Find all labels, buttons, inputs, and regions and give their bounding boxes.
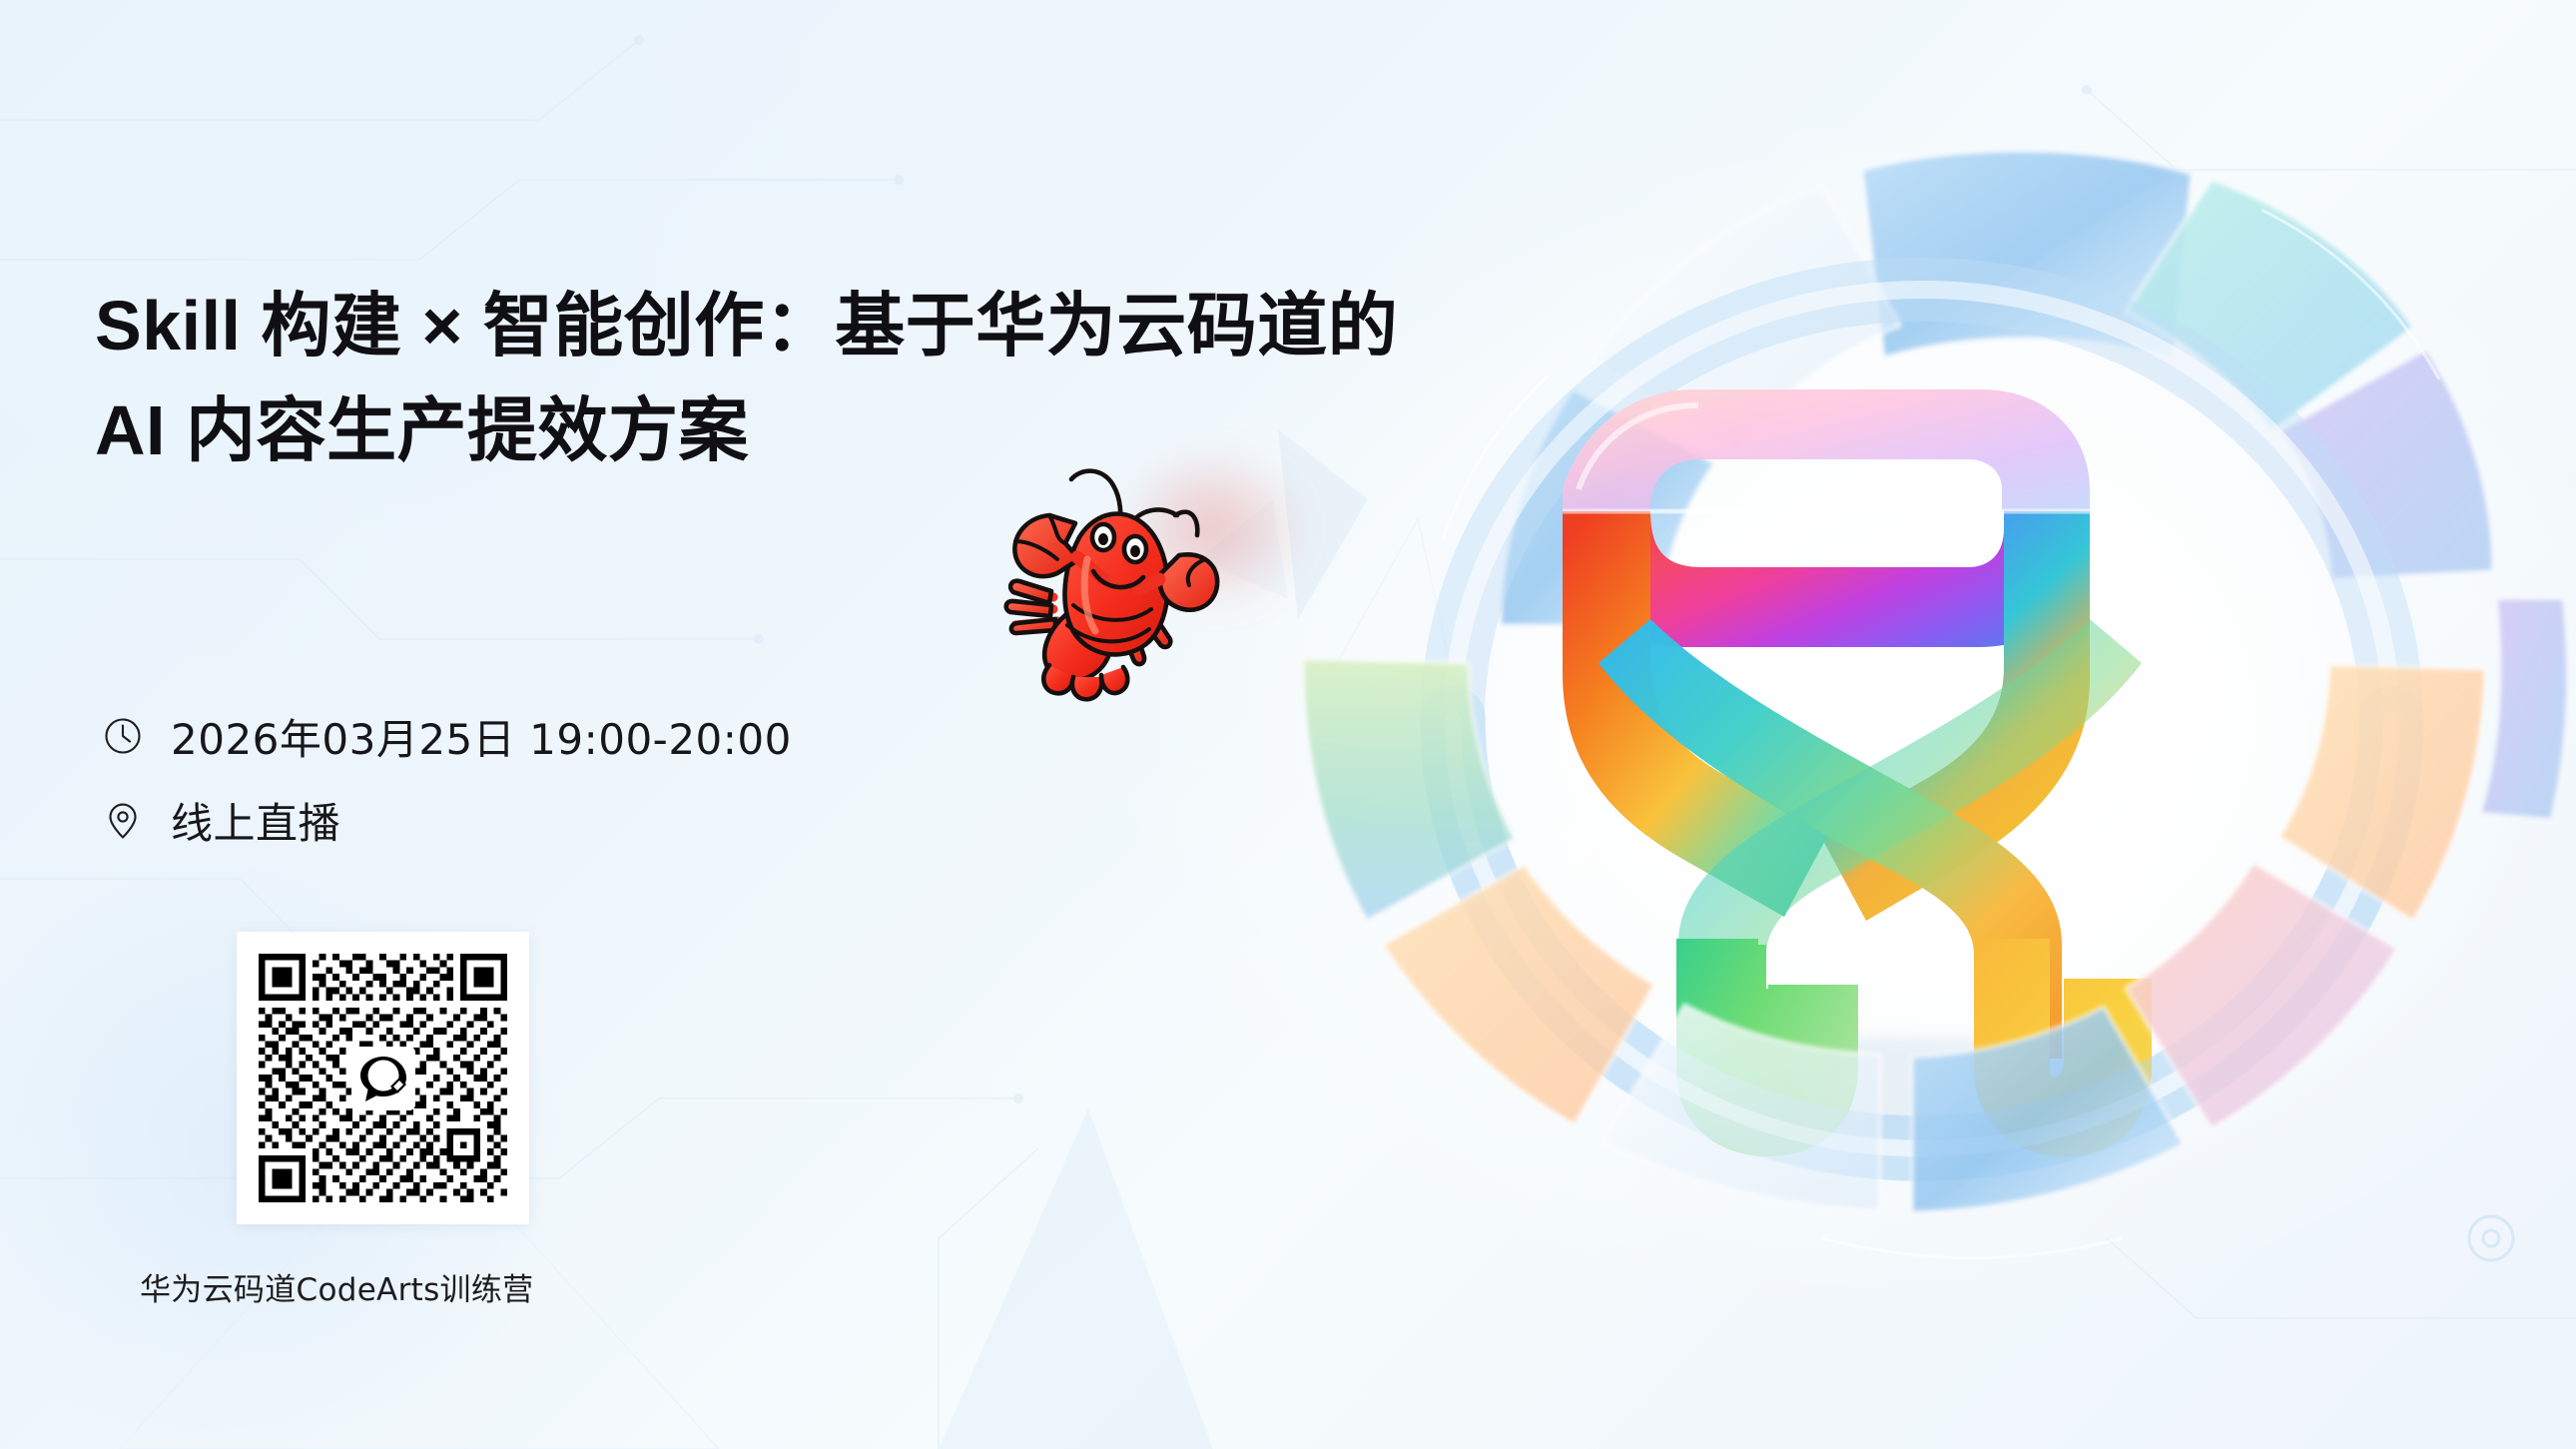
event-meta: 2026年03月25日 19:00-20:00 线上直播 <box>101 705 792 873</box>
lobster-mascot <box>954 419 1253 719</box>
event-datetime-text: 2026年03月25日 19:00-20:00 <box>171 706 792 767</box>
event-location-row: 线上直播 <box>101 789 792 851</box>
event-datetime-row: 2026年03月25日 19:00-20:00 <box>101 705 792 767</box>
event-location-text: 线上直播 <box>171 790 340 851</box>
qr-caption: 华为云码道CodeArts训练营 <box>140 1264 639 1309</box>
chat-bubble-icon <box>351 1047 415 1110</box>
clock-icon <box>101 714 145 758</box>
hero-artwork <box>1263 60 2576 1388</box>
title-line-1: Skill 构建 × 智能创作：基于华为云码道的 <box>95 280 1213 372</box>
content-column: Skill 构建 × 智能创作：基于华为云码道的 AI 内容生产提效方案 202… <box>95 0 1273 1449</box>
location-pin-icon <box>101 798 145 842</box>
decor-circle <box>2469 1216 2513 1260</box>
qr-code-card[interactable] <box>237 932 529 1224</box>
promo-banner: Skill 构建 × 智能创作：基于华为云码道的 AI 内容生产提效方案 202… <box>0 0 2576 1449</box>
